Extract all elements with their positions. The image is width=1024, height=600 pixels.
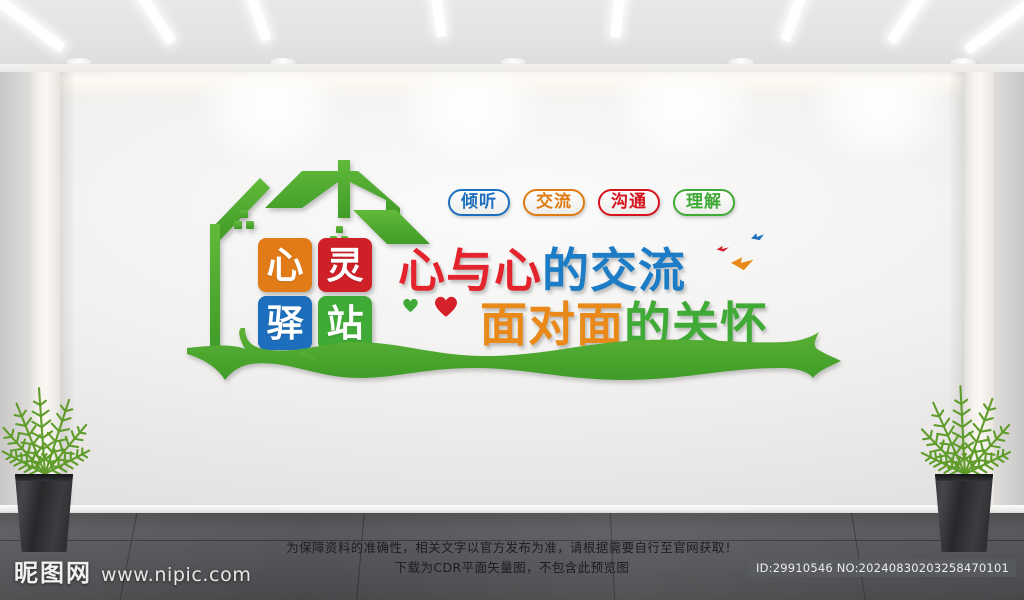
palm-fronds [0,388,91,482]
palm-fronds [919,386,1011,482]
wall-art-group: 心 灵 驿 站 倾听 交流 沟通 理解 心与心的交流 面对面的关怀 [190,160,850,385]
plant-pot-rim [931,474,997,481]
linear-light-strip [0,0,66,53]
pill-goutong: 沟通 [598,189,660,216]
linear-light-strip [610,0,634,38]
pill-lijie: 理解 [673,189,735,216]
linear-light-strip [220,0,271,42]
potted-palm-left [0,378,90,553]
linear-light-strip [96,0,176,45]
bird-red [716,244,732,255]
linear-light-strip [421,0,446,37]
tile-xin: 心 [258,238,312,292]
asset-id-badge: ID:29910546 NO:20240830203258470101 [749,559,1016,577]
bird-blue [750,232,766,243]
pill-qingting: 倾听 [448,189,510,216]
pill-jiaoliu: 交流 [523,189,585,216]
linear-light-strip [780,0,831,42]
heart-large-red [433,294,459,318]
linear-light-strip [964,0,1024,55]
linear-light-strip [887,0,969,45]
green-wave-ribbon [185,328,845,398]
ceiling [0,0,1024,72]
potted-palm-right [920,378,1010,553]
caption-line-1: 为保障资料的准确性，相关文字以官方发布为准，请根据需要自行至官网获取！ [286,540,738,555]
tile-ling: 灵 [318,238,372,292]
heart-small-green [402,297,419,313]
plant-pot-rim [11,474,77,481]
bird-orange [731,256,755,273]
screenshot-root: 心 灵 驿 站 倾听 交流 沟通 理解 心与心的交流 面对面的关怀 [0,0,1024,600]
